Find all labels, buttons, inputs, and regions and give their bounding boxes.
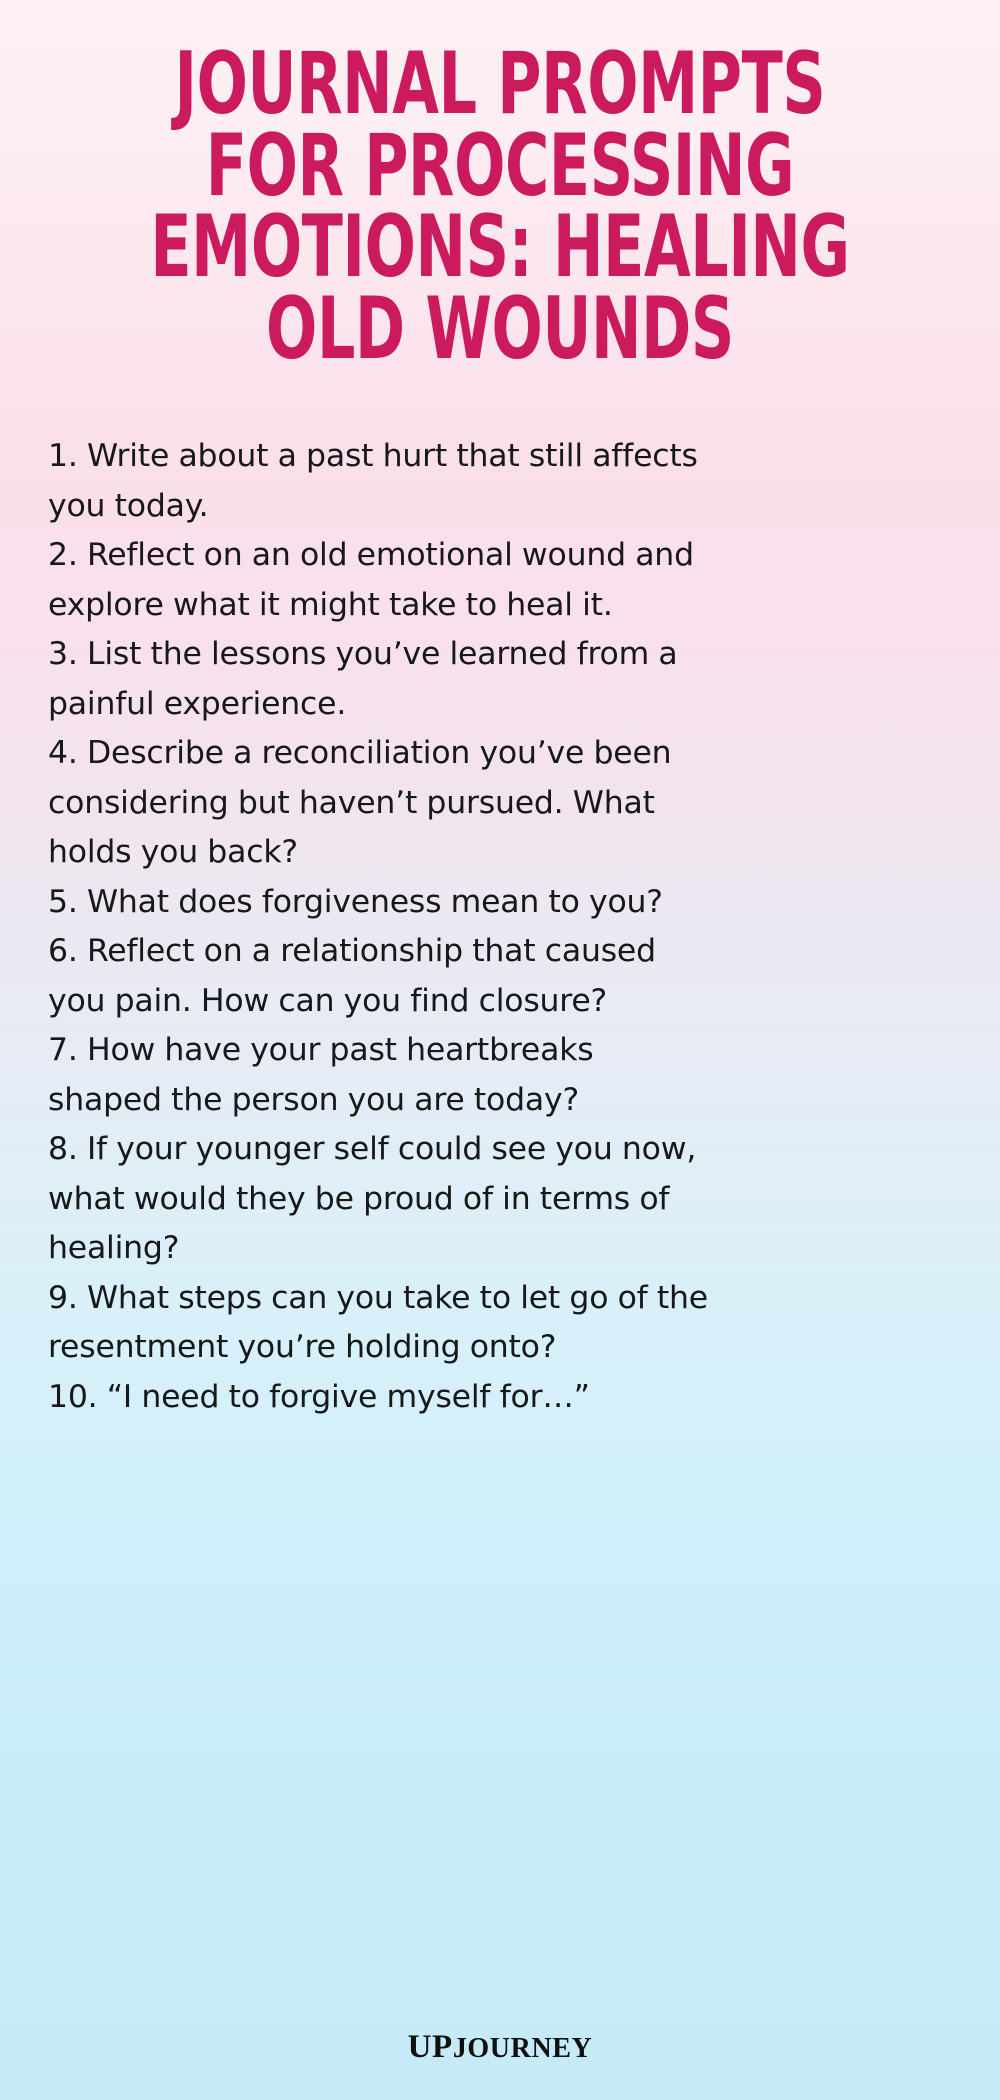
list-item: 9. What steps can you take to let go of … <box>48 1274 708 1373</box>
list-item: 5. What does forgiveness mean to you? <box>48 878 708 928</box>
list-item: 10. “I need to forgive myself for…” <box>48 1373 708 1423</box>
title-line-3: EMOTIONS: HEALING <box>138 207 862 289</box>
brand-logo-prefix: UP <box>408 2029 453 2065</box>
footer: UPJOURNEY <box>0 2029 1000 2066</box>
page-title: JOURNAL PROMPTS FOR PROCESSING EMOTIONS:… <box>0 44 1000 371</box>
brand-logo: UPJOURNEY <box>408 2029 593 2066</box>
list-item: 7. How have your past heartbreaks shaped… <box>48 1026 708 1125</box>
brand-logo-suffix: JOURNEY <box>453 2033 593 2064</box>
list-item: 4. Describe a reconciliation you’ve been… <box>48 729 708 878</box>
title-line-2: FOR PROCESSING <box>138 126 862 208</box>
title-line-4: OLD WOUNDS <box>138 289 862 371</box>
title-line-1: JOURNAL PROMPTS <box>138 44 862 126</box>
list-item: 2. Reflect on an old emotional wound and… <box>48 531 708 630</box>
list-item: 6. Reflect on a relationship that caused… <box>48 927 708 1026</box>
list-item: 8. If your younger self could see you no… <box>48 1125 708 1274</box>
journal-prompt-list: 1. Write about a past hurt that still af… <box>48 432 708 1422</box>
list-item: 1. Write about a past hurt that still af… <box>48 432 708 531</box>
list-item: 3. List the lessons you’ve learned from … <box>48 630 708 729</box>
pinterest-pin-graphic: JOURNAL PROMPTS FOR PROCESSING EMOTIONS:… <box>0 0 1000 2100</box>
